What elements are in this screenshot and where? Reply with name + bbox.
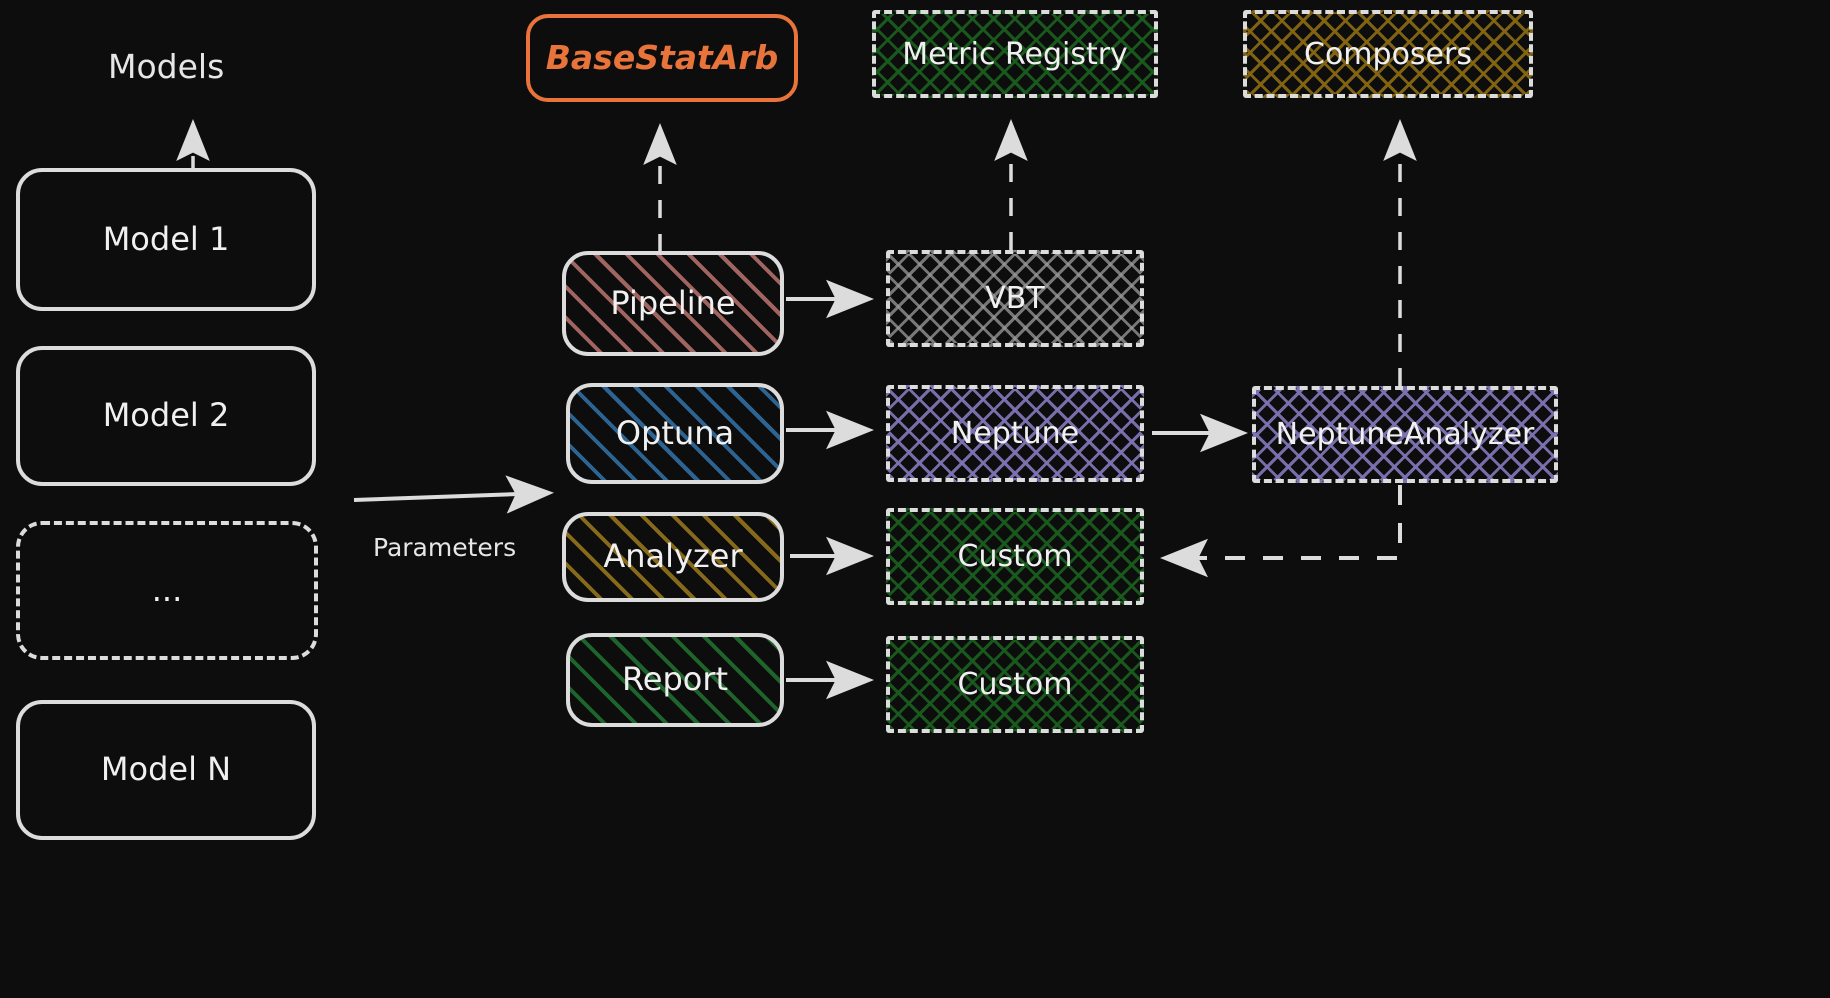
node-optuna[interactable]: Optuna xyxy=(566,383,784,484)
models-group-label: Models xyxy=(108,47,224,86)
node-vbt-label: VBT xyxy=(985,282,1044,315)
node-analyzer-label: Analyzer xyxy=(603,539,742,574)
diagram-canvas: Models Model 1 Model 2 ... Model N Param… xyxy=(0,0,1830,998)
node-metric-registry-label: Metric Registry xyxy=(902,38,1128,71)
diagram-edges xyxy=(0,0,1830,998)
edge-models-to-parameters xyxy=(354,493,546,500)
node-base-stat-arb-label: BaseStatArb xyxy=(546,40,778,76)
node-analyzer[interactable]: Analyzer xyxy=(562,512,784,602)
node-report-label: Report xyxy=(622,662,728,697)
node-pipeline[interactable]: Pipeline xyxy=(562,251,784,356)
node-model-ellipsis[interactable]: ... xyxy=(16,521,318,660)
node-composers[interactable]: Composers xyxy=(1243,10,1533,98)
node-model-n[interactable]: Model N xyxy=(16,700,316,840)
node-neptune-analyzer-label: NeptuneAnalyzer xyxy=(1276,418,1535,451)
node-model-n-label: Model N xyxy=(101,752,231,787)
node-custom-analyzer[interactable]: Custom xyxy=(886,508,1144,605)
node-neptune[interactable]: Neptune xyxy=(886,385,1144,482)
node-model-2[interactable]: Model 2 xyxy=(16,346,316,486)
node-pipeline-label: Pipeline xyxy=(610,286,735,321)
node-model-1[interactable]: Model 1 xyxy=(16,168,316,311)
node-neptune-label: Neptune xyxy=(951,417,1079,450)
node-custom-report-label: Custom xyxy=(958,668,1073,701)
edge-label-parameters: Parameters xyxy=(373,533,516,562)
node-composers-label: Composers xyxy=(1304,38,1472,71)
node-model-2-label: Model 2 xyxy=(103,398,230,433)
edge-neptuneanalyzer-to-custom xyxy=(1168,485,1400,558)
node-model-ellipsis-label: ... xyxy=(152,573,183,608)
node-metric-registry[interactable]: Metric Registry xyxy=(872,10,1158,98)
node-neptune-analyzer[interactable]: NeptuneAnalyzer xyxy=(1252,386,1558,483)
node-report[interactable]: Report xyxy=(566,633,784,727)
node-vbt[interactable]: VBT xyxy=(886,250,1144,347)
node-custom-analyzer-label: Custom xyxy=(958,540,1073,573)
node-optuna-label: Optuna xyxy=(616,416,734,451)
node-model-1-label: Model 1 xyxy=(103,222,230,257)
node-base-stat-arb[interactable]: BaseStatArb xyxy=(526,14,798,102)
node-custom-report[interactable]: Custom xyxy=(886,636,1144,733)
